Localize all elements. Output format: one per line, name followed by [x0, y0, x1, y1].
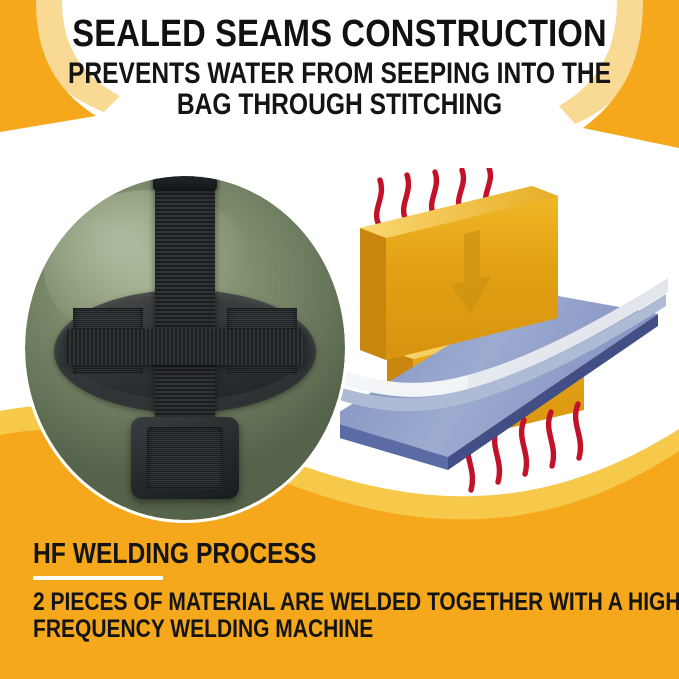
caption-line-1: 2 PIECES OF MATERIAL ARE WELDED TOGETHER… [33, 589, 554, 616]
subtitle-line-1: PREVENTS WATER FROM SEEPING INTO THE [61, 58, 618, 89]
subtitle-line-2: BAG THROUGH STITCHING [61, 89, 618, 120]
hf-welding-diagram [340, 168, 679, 520]
caption-title: HF WELDING PROCESS [33, 539, 560, 569]
infographic-canvas: SEALED SEAMS CONSTRUCTION PREVENTS WATER… [0, 0, 679, 679]
lower-welded-patch-webbing [147, 427, 224, 489]
header-block: SEALED SEAMS CONSTRUCTION PREVENTS WATER… [0, 14, 679, 120]
page-title: SEALED SEAMS CONSTRUCTION [48, 14, 632, 54]
caption-line-2: FREQUENCY WELDING MACHINE [33, 616, 554, 643]
hf-welding-diagram-svg [340, 168, 679, 520]
caption-block: HF WELDING PROCESS 2 PIECES OF MATERIAL … [33, 539, 653, 643]
strap-buckle [153, 176, 217, 190]
caption-underline [33, 576, 163, 580]
horizontal-webbing-strap [67, 329, 304, 365]
product-photo-circle [25, 176, 345, 520]
